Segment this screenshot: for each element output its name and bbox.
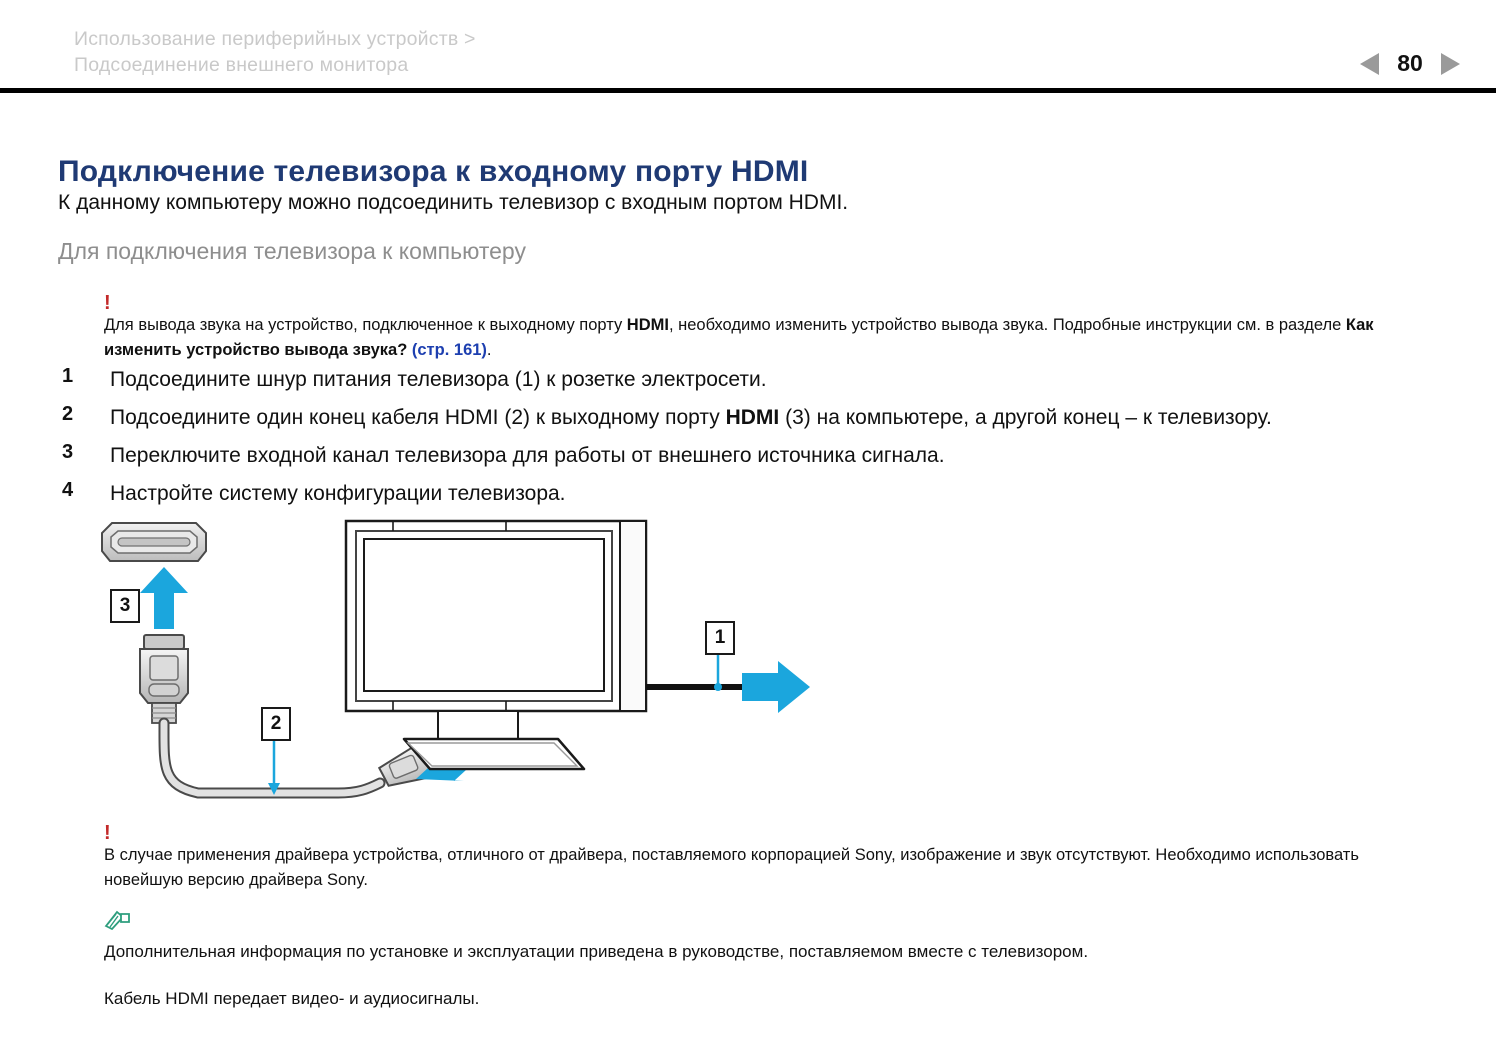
step-text-part-2: (3) на компьютере, а другой конец – к те… (779, 406, 1272, 429)
breadcrumb: Использование периферийных устройств >По… (74, 26, 476, 78)
insert-arrow-up-icon (140, 567, 188, 629)
pencil-note-icon (104, 908, 1404, 935)
triangle-right-icon[interactable] (1441, 53, 1460, 75)
connection-diagram: 3 2 1 (88, 517, 828, 817)
step-text-part-1: Подсоедините один конец кабеля HDMI (2) … (110, 406, 726, 429)
step-list: 1 Подсоедините шнур питания телевизора (… (58, 365, 1438, 517)
breadcrumb-line-1: Использование периферийных устройств > (74, 28, 476, 50)
list-item-step-4: 4 Настройте систему конфигурации телевиз… (58, 479, 1438, 509)
hint-line-2: Кабель HDMI передает видео- и аудиосигна… (104, 986, 1404, 1011)
list-item-step-3: 3 Переключите входной канал телевизора д… (58, 441, 1438, 471)
step-text: Подсоедините шнур питания телевизора (1)… (110, 365, 767, 395)
list-item-step-1: 1 Подсоедините шнур питания телевизора (… (58, 365, 1438, 395)
hint-line-1: Дополнительная информация по установке и… (104, 939, 1404, 964)
note-text-part-4: . (487, 341, 492, 359)
page-title: Подключение телевизора к входному порту … (58, 155, 808, 189)
triangle-left-icon[interactable] (1360, 53, 1379, 75)
step-text: Настройте систему конфигурации телевизор… (110, 479, 566, 509)
step-text: Переключите входной канал телевизора для… (110, 441, 945, 471)
exclamation-icon: ! (104, 826, 1434, 840)
callout-2: 2 (261, 707, 291, 741)
power-cord-illustration (646, 651, 810, 713)
note-bottom-text: В случае применения драйвера устройства,… (104, 846, 1359, 889)
television-illustration (346, 521, 646, 769)
hint-block: Дополнительная информация по установке и… (104, 908, 1404, 1011)
note-sony-driver: ! В случае применения драйвера устройств… (104, 826, 1434, 893)
step-text: Подсоедините один конец кабеля HDMI (2) … (110, 403, 1272, 433)
hdmi-port-illustration (102, 523, 206, 561)
page-reference-link[interactable]: (стр. 161) (412, 341, 487, 359)
header-divider (0, 88, 1496, 93)
list-item-step-2: 2 Подсоедините один конец кабеля HDMI (2… (58, 403, 1438, 433)
step-number: 4 (58, 479, 110, 509)
callout-1: 1 (705, 621, 735, 655)
exclamation-icon: ! (104, 296, 1434, 310)
hdmi-plug-illustration (140, 635, 188, 723)
step-bold-hdmi: HDMI (726, 406, 780, 429)
step-number: 3 (58, 441, 110, 471)
note-text-part-1: Для вывода звука на устройство, подключе… (104, 316, 627, 334)
step-number: 1 (58, 365, 110, 395)
step-number: 2 (58, 403, 110, 433)
pager: 80 (1360, 50, 1460, 77)
diagram-svg (88, 517, 828, 817)
breadcrumb-line-2: Подсоединение внешнего монитора (74, 54, 408, 76)
callout-2-leader (268, 739, 280, 795)
note-text-part-2: , необходимо изменить устройство вывода … (669, 316, 1346, 334)
page-header: Использование периферийных устройств >По… (0, 0, 1496, 93)
subsection-heading: Для подключения телевизора к компьютеру (58, 238, 526, 265)
callout-3: 3 (110, 589, 140, 623)
page-number: 80 (1393, 50, 1427, 77)
intro-paragraph: К данному компьютеру можно подсоединить … (58, 191, 848, 215)
note-bold-hdmi: HDMI (627, 316, 669, 334)
note-audio-output: ! Для вывода звука на устройство, подклю… (104, 296, 1434, 363)
